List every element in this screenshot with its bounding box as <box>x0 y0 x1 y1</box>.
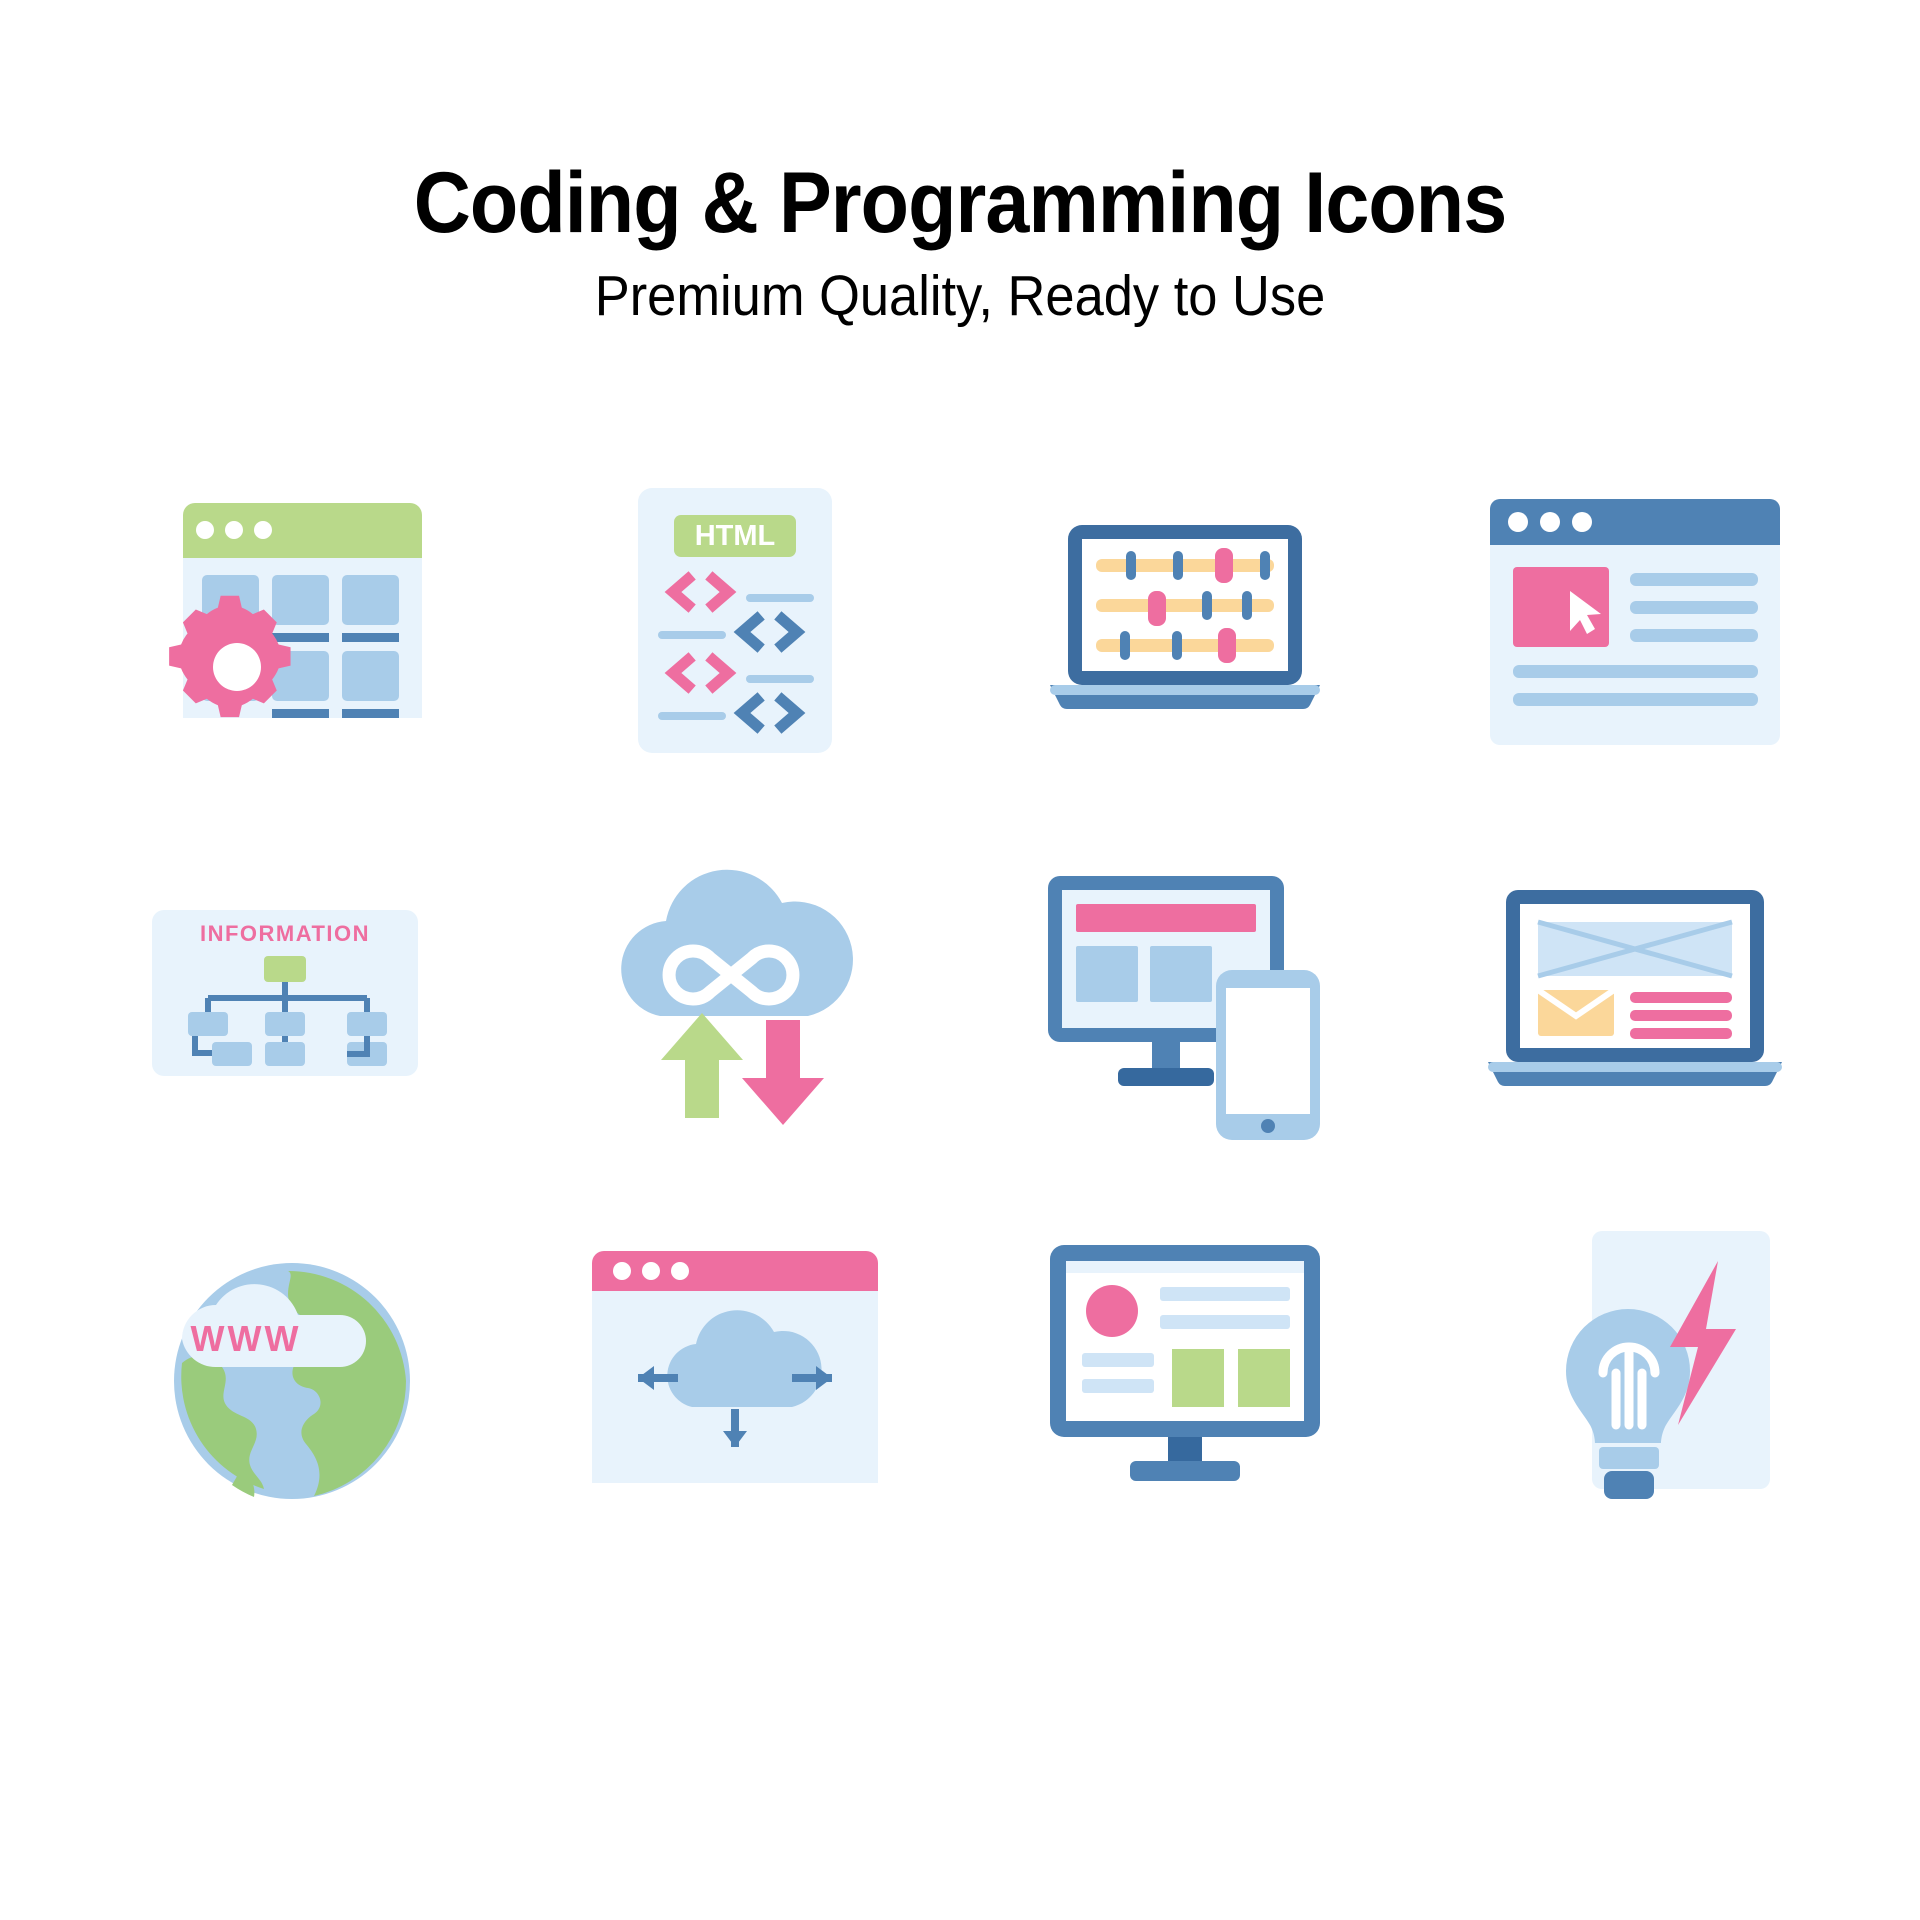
icon-cell-html-code[interactable]: HTML <box>510 430 960 805</box>
screen-topbar <box>1066 1261 1304 1273</box>
card-line-6 <box>342 709 399 718</box>
browser-body-foot <box>1490 725 1780 745</box>
icon-cell-idea-bulb[interactable] <box>1410 1180 1860 1555</box>
content-block-2 <box>1150 946 1212 1002</box>
image-placeholder <box>1538 922 1732 976</box>
marker-b3 <box>1260 551 1270 580</box>
gear-hole <box>213 643 261 691</box>
node-leaf-2 <box>265 1042 305 1066</box>
icon-cell-cloud-network[interactable] <box>510 1180 960 1555</box>
laptop-wireframe-icon[interactable] <box>1470 828 1800 1158</box>
marker-p2 <box>1148 591 1166 626</box>
text-line-2 <box>1630 601 1758 614</box>
monitor-neck <box>1152 1042 1180 1070</box>
icon-cell-web-analytics-monitor[interactable] <box>960 1180 1410 1555</box>
text-line-1 <box>1160 1287 1290 1301</box>
content-block-1 <box>1076 946 1138 1002</box>
card-line-3 <box>342 633 399 642</box>
icon-cell-information-architecture[interactable]: INFORMATION <box>60 805 510 1180</box>
marker-b5 <box>1242 591 1252 620</box>
green-bar-2 <box>1238 1349 1290 1407</box>
code-line-3 <box>746 675 814 683</box>
green-up-arrow-icon <box>661 1013 743 1118</box>
icon-grid: HTML <box>60 430 1860 1555</box>
pink-panel <box>1513 567 1609 647</box>
code-line-2 <box>658 631 726 639</box>
marker-b1 <box>1126 551 1136 580</box>
node-leaf-1 <box>212 1042 252 1066</box>
idea-bulb-icon[interactable] <box>1470 1203 1800 1533</box>
icon-cell-responsive-design[interactable] <box>960 805 1410 1180</box>
marker-p1 <box>1215 548 1233 583</box>
text-line-1 <box>1630 573 1758 586</box>
titlebar-dot-1 <box>613 1262 631 1280</box>
titlebar-dot-3 <box>671 1262 689 1280</box>
page-header: Coding & Programming Icons Premium Quali… <box>0 0 1920 325</box>
html-code-icon[interactable]: HTML <box>570 453 900 783</box>
titlebar-dot-3 <box>254 521 272 539</box>
node-mid <box>265 1012 305 1036</box>
pink-line-1 <box>1630 992 1732 1003</box>
bulb-base-top <box>1599 1447 1659 1469</box>
icon-cell-website-settings[interactable] <box>60 430 510 805</box>
laptop-timeline-icon[interactable] <box>1020 453 1350 783</box>
node-right <box>347 1012 387 1036</box>
icon-cell-www-globe[interactable]: WWW <box>60 1180 510 1555</box>
cloud-network-icon[interactable] <box>570 1203 900 1533</box>
green-titlebar-body <box>183 525 422 558</box>
titlebar-dot-1 <box>1508 512 1528 532</box>
page-title: Coding & Programming Icons <box>77 160 1843 246</box>
pink-circle <box>1086 1285 1138 1337</box>
green-titlebar <box>183 503 422 525</box>
titlebar-dot-1 <box>196 521 214 539</box>
text-line-3 <box>1630 629 1758 642</box>
web-analytics-monitor-icon[interactable] <box>1020 1203 1350 1533</box>
icon-cell-cloud-devops[interactable] <box>510 805 960 1180</box>
laptop-hinge <box>1488 1062 1782 1072</box>
card-6 <box>342 651 399 701</box>
green-bar-1 <box>1172 1349 1224 1407</box>
node-left <box>188 1012 228 1036</box>
web-layout-cursor-icon[interactable] <box>1470 453 1800 783</box>
information-label: INFORMATION <box>200 921 370 946</box>
information-architecture-icon[interactable]: INFORMATION <box>120 828 450 1158</box>
root-node <box>264 956 306 982</box>
icon-set-page: Coding & Programming Icons Premium Quali… <box>0 0 1920 1920</box>
pink-line-2 <box>1630 1010 1732 1021</box>
card-2 <box>272 575 329 625</box>
marker-p3 <box>1218 628 1236 663</box>
timeline-track-1 <box>1096 559 1274 572</box>
monitor-neck <box>1168 1437 1202 1463</box>
titlebar-dot-3 <box>1572 512 1592 532</box>
smartphone-home-button <box>1261 1119 1275 1133</box>
pink-line-3 <box>1630 1028 1732 1039</box>
monitor-stand <box>1130 1461 1240 1481</box>
html-badge-label: HTML <box>695 520 776 552</box>
responsive-design-icon[interactable] <box>1020 828 1350 1158</box>
text-line-4 <box>1082 1379 1154 1393</box>
text-line-2 <box>1160 1315 1290 1329</box>
titlebar-dot-2 <box>225 521 243 539</box>
titlebar-dot-2 <box>642 1262 660 1280</box>
text-line-4 <box>1513 665 1758 678</box>
icon-cell-laptop-wireframe[interactable] <box>1410 805 1860 1180</box>
card-3 <box>342 575 399 625</box>
card-line-5 <box>272 709 329 718</box>
icon-cell-laptop-timeline[interactable] <box>960 430 1410 805</box>
laptop-hinge <box>1050 685 1320 695</box>
marker-b7 <box>1172 631 1182 660</box>
marker-b4 <box>1202 591 1212 620</box>
titlebar-dot-2 <box>1540 512 1560 532</box>
code-line-1 <box>746 594 814 602</box>
code-line-4 <box>658 712 726 720</box>
text-line-5 <box>1513 693 1758 706</box>
marker-b6 <box>1120 631 1130 660</box>
pink-titlebar <box>592 1251 878 1291</box>
blue-titlebar <box>1490 499 1780 545</box>
page-subtitle: Premium Quality, Ready to Use <box>77 268 1843 325</box>
card-line-2 <box>272 633 329 642</box>
bulb-base-bottom <box>1604 1471 1654 1499</box>
www-label: WWW <box>191 1318 302 1359</box>
monitor-stand <box>1118 1068 1214 1086</box>
smartphone-screen <box>1226 988 1310 1114</box>
pink-banner <box>1076 904 1256 932</box>
www-globe-icon[interactable]: WWW <box>120 1203 450 1533</box>
website-settings-icon[interactable] <box>120 453 450 783</box>
icon-cell-web-layout-cursor[interactable] <box>1410 430 1860 805</box>
text-line-3 <box>1082 1353 1154 1367</box>
cloud-shape <box>621 869 853 1015</box>
marker-b2 <box>1173 551 1183 580</box>
cloud-devops-icon[interactable] <box>570 828 900 1158</box>
pink-down-arrow-icon <box>742 1020 824 1125</box>
